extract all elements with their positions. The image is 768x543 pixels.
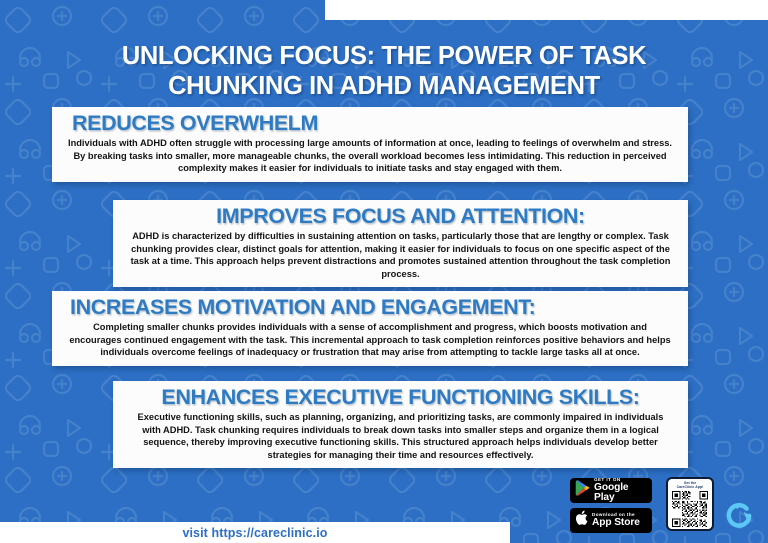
careclinic-circular-arrow-logo <box>722 498 756 532</box>
section-body: ADHD is characterized by difficulties in… <box>123 230 678 280</box>
google-play-label: GET IT ON Google Play <box>594 478 647 504</box>
section-card-enhances-executive-functioning: ENHANCES EXECUTIVE FUNCTIONING SKILLS: E… <box>113 381 688 468</box>
qr-code-card[interactable]: Get the CareClinic App! <box>666 477 714 531</box>
qr-label: Get the CareClinic App! <box>670 480 710 491</box>
title-line-1: UNLOCKING FOCUS: THE POWER OF TASK <box>122 42 646 70</box>
section-heading: IMPROVES FOCUS AND ATTENTION: <box>123 205 678 228</box>
section-card-reduces-overwhelm: REDUCES OVERWHELM Individuals with ADHD … <box>52 107 688 182</box>
app-store-badges: GET IT ON Google Play Download on the Ap… <box>570 478 652 538</box>
title-line-2: CHUNKING IN ADHD MANAGEMENT <box>66 72 702 102</box>
section-card-increases-motivation: INCREASES MOTIVATION AND ENGAGEMENT: Com… <box>52 291 688 366</box>
visit-url-link[interactable]: visit https://careclinic.io <box>0 522 510 543</box>
top-white-band <box>325 0 768 20</box>
app-store-big-text: App Store <box>592 518 640 528</box>
google-play-big-text: Google Play <box>594 483 647 503</box>
section-heading: REDUCES OVERWHELM <box>62 112 678 135</box>
page-title: UNLOCKING FOCUS: THE POWER OF TASK CHUNK… <box>0 42 768 101</box>
google-play-badge[interactable]: GET IT ON Google Play <box>570 478 652 503</box>
section-heading: ENHANCES EXECUTIVE FUNCTIONING SKILLS: <box>123 386 678 409</box>
section-body: Executive functioning skills, such as pl… <box>123 411 678 461</box>
google-play-icon <box>575 480 590 501</box>
app-store-label: Download on the App Store <box>592 513 640 529</box>
section-card-improves-focus: IMPROVES FOCUS AND ATTENTION: ADHD is ch… <box>113 200 688 287</box>
section-heading: INCREASES MOTIVATION AND ENGAGEMENT: <box>62 296 678 319</box>
apple-icon <box>575 510 588 531</box>
qr-code-icon <box>670 491 710 527</box>
infographic-poster: UNLOCKING FOCUS: THE POWER OF TASK CHUNK… <box>0 0 768 543</box>
app-store-badge[interactable]: Download on the App Store <box>570 508 652 533</box>
qr-label-line-2: CareClinic App! <box>677 485 704 489</box>
section-body: Completing smaller chunks provides indiv… <box>62 321 678 358</box>
section-body: Individuals with ADHD often struggle wit… <box>62 137 678 174</box>
